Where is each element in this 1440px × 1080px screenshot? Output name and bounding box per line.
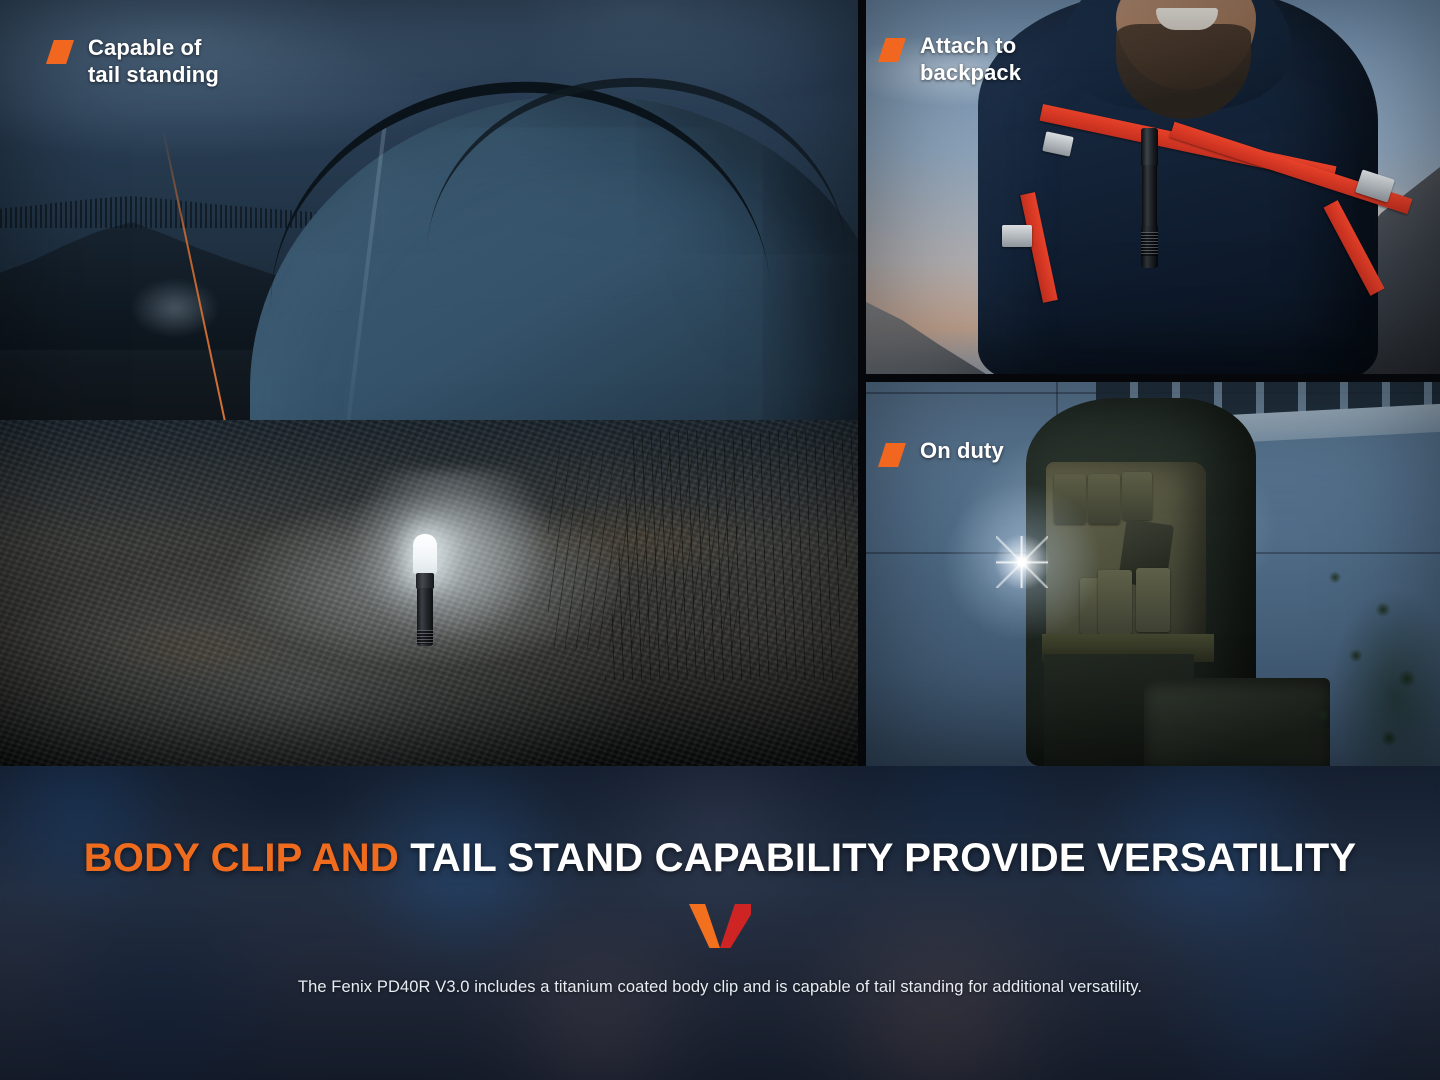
- hiker-smile: [1156, 8, 1218, 30]
- orange-slash-icon: [46, 40, 74, 64]
- mag-pouch: [1122, 472, 1152, 520]
- flashlight-clipped: [1141, 128, 1158, 268]
- strap-buckle-c: [1002, 225, 1032, 247]
- flashlight-head: [416, 573, 434, 589]
- caption-text: Capable of tail standing: [88, 34, 219, 89]
- caption-tail-standing: Capable of tail standing: [46, 34, 219, 89]
- foliage: [1290, 536, 1440, 766]
- orange-slash-icon: [878, 38, 906, 62]
- flashlight-body: [1142, 165, 1157, 227]
- banner-subcopy: The Fenix PD40R V3.0 includes a titanium…: [0, 978, 1440, 997]
- headline-highlight: BODY CLIP AND: [84, 836, 411, 880]
- product-feature-page: Capable of tail standing Attach to backp…: [0, 0, 1440, 1080]
- caption-text: Attach to backpack: [920, 32, 1021, 87]
- headline-rest: TAIL STAND CAPABILITY PROVIDE VERSATILIT…: [410, 836, 1356, 880]
- chevron-down-icon: [689, 904, 751, 948]
- flashlight-knurling: [1141, 232, 1158, 256]
- flashlight-knurling: [417, 630, 433, 644]
- chevron-left-half: [689, 904, 720, 948]
- dry-grass-mid: [548, 450, 738, 650]
- caption-text: On duty: [920, 437, 1004, 464]
- flashlight-glow: [340, 470, 560, 650]
- photo-collage: Capable of tail standing Attach to backp…: [0, 0, 1440, 766]
- flashlight-head: [1141, 128, 1158, 166]
- caption-on-duty: On duty: [878, 437, 1004, 467]
- flashlight-tail-standing: [412, 534, 438, 644]
- caption-attach-to-backpack: Attach to backpack: [878, 32, 1021, 87]
- flashlight-starburst: [996, 536, 1048, 588]
- chevron-right-half: [720, 904, 751, 948]
- orange-slash-icon: [878, 443, 906, 467]
- banner-headline: BODY CLIP AND TAIL STAND CAPABILITY PROV…: [0, 838, 1440, 878]
- diffuser-tip: [413, 534, 437, 574]
- utility-pouch: [1136, 568, 1170, 632]
- panel-tail-standing: [0, 0, 858, 766]
